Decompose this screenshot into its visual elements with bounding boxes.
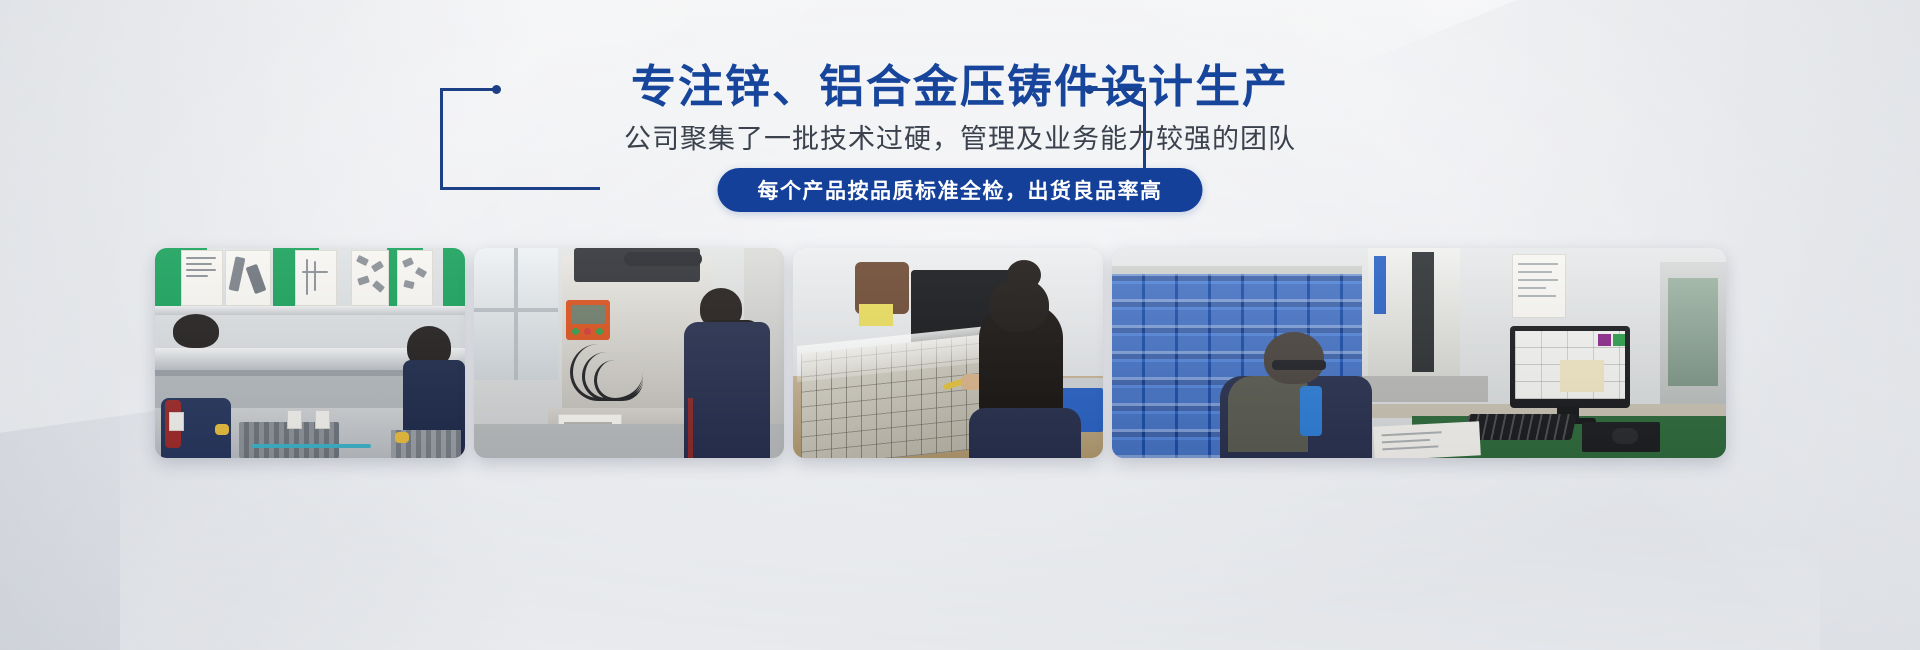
gallery-photo-1[interactable] <box>155 248 465 458</box>
photo-2-shade <box>474 248 784 458</box>
gallery-photo-2[interactable] <box>474 248 784 458</box>
quality-badge: 每个产品按品质标准全检，出货良品率高 <box>718 168 1203 212</box>
photo-2-scene <box>474 248 784 458</box>
banner-subtitle: 公司聚集了一批技术过硬，管理及业务能力较强的团队 <box>0 118 1920 160</box>
photo-3-scene <box>793 248 1103 458</box>
photo-3-shade <box>793 248 1103 458</box>
promo-banner: 专注锌、铝合金压铸件设计生产 公司聚集了一批技术过硬，管理及业务能力较强的团队 … <box>0 0 1920 650</box>
bracket-bottom-left-line <box>440 187 600 190</box>
gallery-photo-3[interactable] <box>793 248 1103 458</box>
gallery-photo-4[interactable] <box>1112 248 1726 458</box>
photo-4-shade <box>1112 248 1726 458</box>
photo-1-shade <box>155 248 465 458</box>
photo-4-scene <box>1112 248 1726 458</box>
banner-title: 专注锌、铝合金压铸件设计生产 <box>0 58 1920 116</box>
photo-1-scene <box>155 248 465 458</box>
factory-photo-gallery <box>0 248 1920 458</box>
headline-block: 专注锌、铝合金压铸件设计生产 公司聚集了一批技术过硬，管理及业务能力较强的团队 … <box>0 0 1920 240</box>
